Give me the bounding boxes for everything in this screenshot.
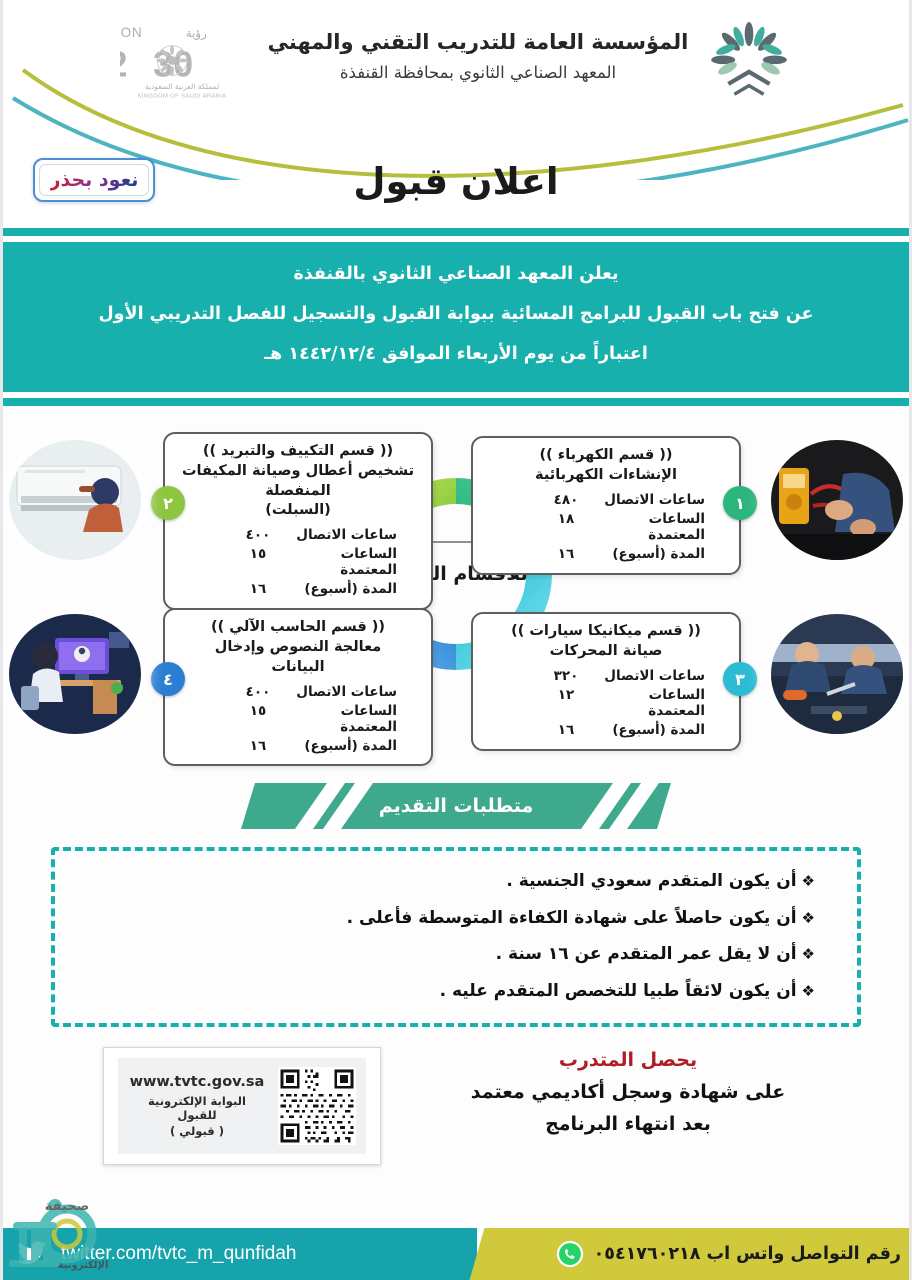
bullet-icon: ❖ [802, 982, 815, 1000]
computer-workstation-photo [9, 614, 141, 734]
requirement-text: أن يكون المتقدم سعودي الجنسية . [506, 871, 796, 891]
poster-footer: رقم التواصل واتس اب ٠٥٤١٧٦٠٢١٨ twitter.c… [3, 1228, 912, 1280]
bullet-icon: ❖ [802, 945, 815, 963]
qr-url-label: www.tvtc.gov.sa [128, 1074, 266, 1090]
twitter-handle-label[interactable]: twitter.com/tvtc_m_qunfidah [61, 1243, 297, 1265]
contact-hours-label: ساعات الاتصال [595, 492, 727, 508]
announcement-banner: يعلن المعهد الصناعي الثانوي بالقنفذة عن … [3, 242, 909, 392]
department-card-hvac[interactable]: (( قسم التكييف والتبريد )) تشخيص أعطال و… [163, 432, 433, 609]
trainee-line-2: بعد انتهاء البرنامج [433, 1113, 823, 1135]
list-item: ❖ أن يكون حاصلاً على شهادة الكفاءة المتو… [93, 908, 819, 928]
teal-divider-top [3, 228, 909, 236]
poster-header: المؤسسة العامة للتدريب التقني والمهني ال… [3, 0, 909, 228]
credit-hours-label: الساعات المعتمدة [287, 703, 419, 735]
credit-hours-value: ١٥ [229, 703, 287, 719]
announcement-line-1: يعلن المعهد الصناعي الثانوي بالقنفذة [33, 264, 879, 284]
poster-page: المؤسسة العامة للتدريب التقني والمهني ال… [0, 0, 912, 1280]
credit-hours-label: الساعات المعتمدة [595, 511, 727, 543]
credit-hours-label: الساعات المعتمدة [595, 687, 727, 719]
bullet-icon: ❖ [802, 872, 815, 890]
credit-hours-value: ١٢ [537, 687, 595, 703]
department-card-electricity[interactable]: (( قسم الكهرباء )) الإنشاءات الكهربائية … [471, 436, 741, 574]
list-item: ❖ أن يكون لائقاً طبيا للتخصص المتقدم علي… [93, 981, 819, 1001]
contact-hours-label: ساعات الاتصال [287, 684, 419, 700]
table-row: ساعات الاتصال ٤٠٠ [177, 526, 419, 545]
footer-social-section: twitter.com/tvtc_m_qunfidah [3, 1228, 477, 1280]
svg-text:VISION: VISION [120, 25, 142, 40]
contact-hours-value: ٤٠٠ [229, 527, 287, 543]
trainee-line-1: على شهادة وسجل أكاديمي معتمد [433, 1081, 823, 1103]
table-row: الساعات المعتمدة ١٥ [177, 545, 419, 580]
credit-hours-value: ١٨ [537, 511, 595, 527]
contact-hours-value: ٤٨٠ [537, 492, 595, 508]
page-title: اعلان قبول [3, 160, 909, 203]
duration-value: ١٦ [537, 722, 595, 738]
table-row: ساعات الاتصال ٣٢٠ [485, 667, 727, 686]
requirements-banner-title: متطلبات التقديم [241, 783, 671, 829]
trainee-benefits: يحصل المتدرب على شهادة وسجل أكاديمي معتم… [433, 1049, 823, 1135]
footer-contact-section: رقم التواصل واتس اب ٠٥٤١٧٦٠٢١٨ [495, 1228, 912, 1280]
bullet-icon: ❖ [802, 909, 815, 927]
table-row: ساعات الاتصال ٤٠٠ [177, 682, 419, 701]
announcement-line-2: عن فتح باب القبول للبرامج المسائية ببواب… [33, 304, 879, 324]
department-title: (( قسم الحاسب الآلي )) [177, 618, 419, 638]
table-row: المدة (أسبوع) ١٦ [177, 736, 419, 755]
requirement-text: أن يكون لائقاً طبيا للتخصص المتقدم عليه … [440, 981, 797, 1001]
department-subtitle-2: البيانات [177, 658, 419, 678]
department-subtitle: صيانة المحركات [485, 642, 727, 662]
qr-portal-label: البوابة الإلكترونية للقبول [128, 1094, 266, 1122]
requirements-banner-wrap: متطلبات التقديم [3, 783, 909, 835]
department-card-computer[interactable]: (( قسم الحاسب الآلي )) معالجة النصوص وإد… [163, 608, 433, 766]
duration-label: المدة (أسبوع) [595, 546, 727, 562]
contact-hours-value: ٣٢٠ [537, 668, 595, 684]
whatsapp-contact-label: رقم التواصل واتس اب ٠٥٤١٧٦٠٢١٨ [594, 1244, 901, 1264]
duration-value: ١٦ [229, 581, 287, 597]
svg-text:رؤية: رؤية [185, 26, 206, 41]
requirements-banner: متطلبات التقديم [241, 783, 671, 829]
table-row: ساعات الاتصال ٤٨٠ [485, 491, 727, 510]
duration-label: المدة (أسبوع) [287, 581, 419, 597]
duration-label: المدة (أسبوع) [287, 738, 419, 754]
car-mechanics-photo [771, 614, 903, 734]
table-row: الساعات المعتمدة ١٥ [177, 701, 419, 736]
department-subtitle-2: (السبلت) [177, 501, 419, 521]
requirements-list-box: ❖ أن يكون المتقدم سعودي الجنسية . ❖ أن ي… [51, 847, 861, 1027]
duration-value: ١٦ [229, 738, 287, 754]
air-conditioner-photo [9, 440, 141, 560]
twitter-icon[interactable] [17, 1241, 47, 1267]
table-row: الساعات المعتمدة ١٢ [485, 686, 727, 721]
requirement-text: أن يكون حاصلاً على شهادة الكفاءة المتوسط… [347, 908, 797, 928]
credit-hours-value: ١٥ [229, 546, 287, 562]
duration-value: ١٦ [537, 546, 595, 562]
departments-section: للأقسام التالية: (( قسم الكهرباء )) الإن… [3, 424, 909, 779]
department-title: (( قسم التكييف والتبريد )) [177, 442, 419, 462]
announcement-line-3: اعتباراً من يوم الأربعاء الموافق ١٤٤٢/١٢… [33, 344, 879, 364]
table-row: الساعات المعتمدة ١٨ [485, 510, 727, 545]
department-subtitle: تشخيص أعطال وصيانة المكيفات المنفصلة [177, 462, 419, 501]
contact-hours-label: ساعات الاتصال [595, 668, 727, 684]
electrical-testing-photo [771, 440, 903, 560]
trainee-heading: يحصل المتدرب [433, 1049, 823, 1071]
bottom-section: www.tvtc.gov.sa البوابة الإلكترونية للقب… [3, 1039, 909, 1219]
department-title: (( قسم الكهرباء )) [485, 446, 727, 466]
list-item: ❖ أن لا يقل عمر المتقدم عن ١٦ سنة . [93, 944, 819, 964]
whatsapp-icon[interactable] [556, 1240, 584, 1268]
qr-code-card[interactable]: www.tvtc.gov.sa البوابة الإلكترونية للقب… [103, 1047, 381, 1165]
teal-divider-bottom [3, 398, 909, 406]
qr-code-icon[interactable] [278, 1067, 356, 1145]
contact-hours-label: ساعات الاتصال [287, 527, 419, 543]
list-item: ❖ أن يكون المتقدم سعودي الجنسية . [93, 871, 819, 891]
department-subtitle: معالجة النصوص وإدخال [177, 638, 419, 658]
contact-hours-value: ٤٠٠ [229, 684, 287, 700]
department-card-car-mechanics[interactable]: (( قسم ميكانيكا سيارات )) صيانة المحركات… [471, 612, 741, 750]
table-row: المدة (أسبوع) ١٦ [485, 721, 727, 740]
table-row: المدة (أسبوع) ١٦ [485, 545, 727, 564]
department-subtitle: الإنشاءات الكهربائية [485, 466, 727, 486]
requirement-text: أن لا يقل عمر المتقدم عن ١٦ سنة . [496, 944, 797, 964]
table-row: المدة (أسبوع) ١٦ [177, 580, 419, 599]
organization-title: المؤسسة العامة للتدريب التقني والمهني [268, 30, 689, 54]
department-title: (( قسم ميكانيكا سيارات )) [485, 622, 727, 642]
qr-portal-name: ( قبولي ) [128, 1124, 266, 1138]
duration-label: المدة (أسبوع) [595, 722, 727, 738]
credit-hours-label: الساعات المعتمدة [287, 546, 419, 578]
